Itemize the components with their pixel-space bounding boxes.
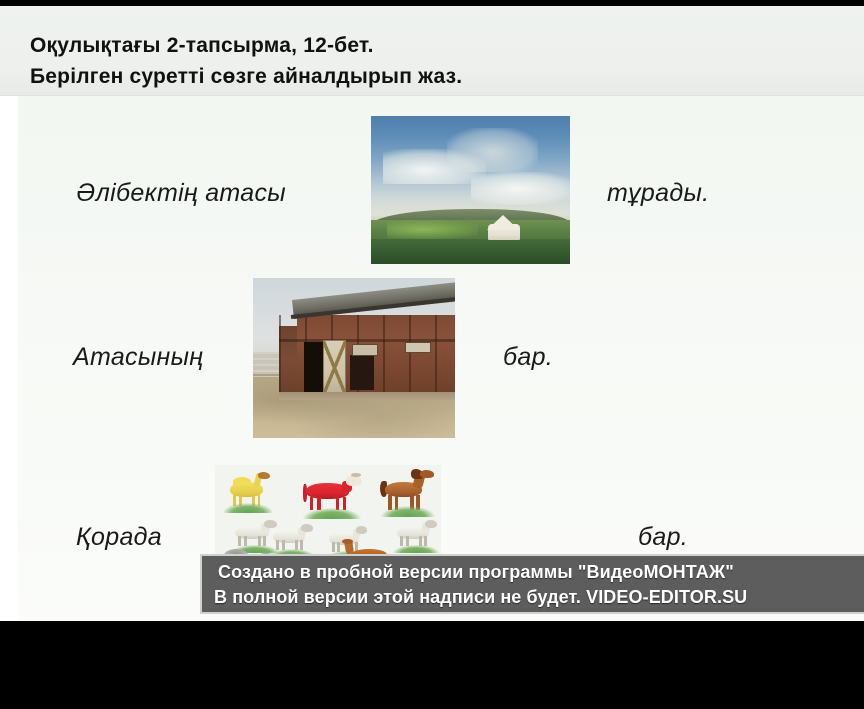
sheep-icon — [391, 515, 441, 553]
cow-head — [346, 476, 362, 487]
sentence-3-right-word: бар. — [638, 523, 688, 552]
sentence-2-right-word: бар. — [503, 343, 553, 372]
sentence-3-left-word: Қорада — [76, 523, 162, 552]
barn-door-brace-b — [323, 340, 346, 396]
task-reference-line: Оқулықтағы 2-тапсырма, 12-бет. — [30, 34, 374, 58]
sentence-1-right-word: тұрады. — [607, 179, 709, 208]
sheep-head — [301, 524, 313, 532]
yurt-roof-icon — [487, 215, 519, 230]
trial-version-watermark: Создано в пробной версии программы "Виде… — [200, 554, 864, 614]
watermark-line-1: Создано в пробной версии программы "Виде… — [218, 562, 734, 583]
goat-head — [356, 526, 368, 534]
barn-window-right — [405, 342, 431, 353]
cloud-right-icon — [471, 172, 571, 205]
sheep-head — [425, 520, 437, 528]
sentence-2-left-word: Атасының — [73, 343, 203, 372]
slide-viewer: Оқулықтағы 2-тапсырма, 12-бет. Берілген … — [0, 0, 864, 709]
grass-tuft — [393, 545, 439, 553]
horse-brown-icon — [379, 467, 437, 517]
sheep-icon — [267, 519, 317, 557]
grass-tuft — [223, 503, 273, 513]
task-instruction-line: Берілген суретті сөзге айналдырып жаз. — [30, 65, 462, 89]
slide-canvas: Оқулықтағы 2-тапсырма, 12-бет. Берілген … — [0, 6, 864, 621]
barn-dark-bay — [350, 355, 374, 390]
wooden-barn-image — [253, 278, 455, 438]
camel-head — [258, 472, 270, 479]
letterbox-top — [0, 0, 864, 6]
steppe-with-yurt-image — [371, 116, 570, 264]
slide-header: Оқулықтағы 2-тапсырма, 12-бет. Берілген … — [0, 6, 864, 96]
farm-animals-image — [215, 465, 441, 563]
grass-tuft — [303, 508, 360, 519]
letterbox-bottom — [0, 621, 864, 709]
camel-yellow-icon — [221, 469, 275, 513]
watermark-line-2: В полной версии этой надписи не будет. V… — [214, 587, 747, 608]
barn-window-left — [352, 344, 378, 357]
sentence-1-left-word: Әлібектің атасы — [76, 179, 286, 208]
cow-red-icon — [301, 471, 363, 519]
near-pasture — [371, 239, 570, 264]
horse-head — [420, 470, 434, 478]
sunlit-pasture — [387, 220, 479, 239]
barn-base-strip — [279, 392, 455, 400]
barn-open-doorway — [304, 342, 324, 395]
